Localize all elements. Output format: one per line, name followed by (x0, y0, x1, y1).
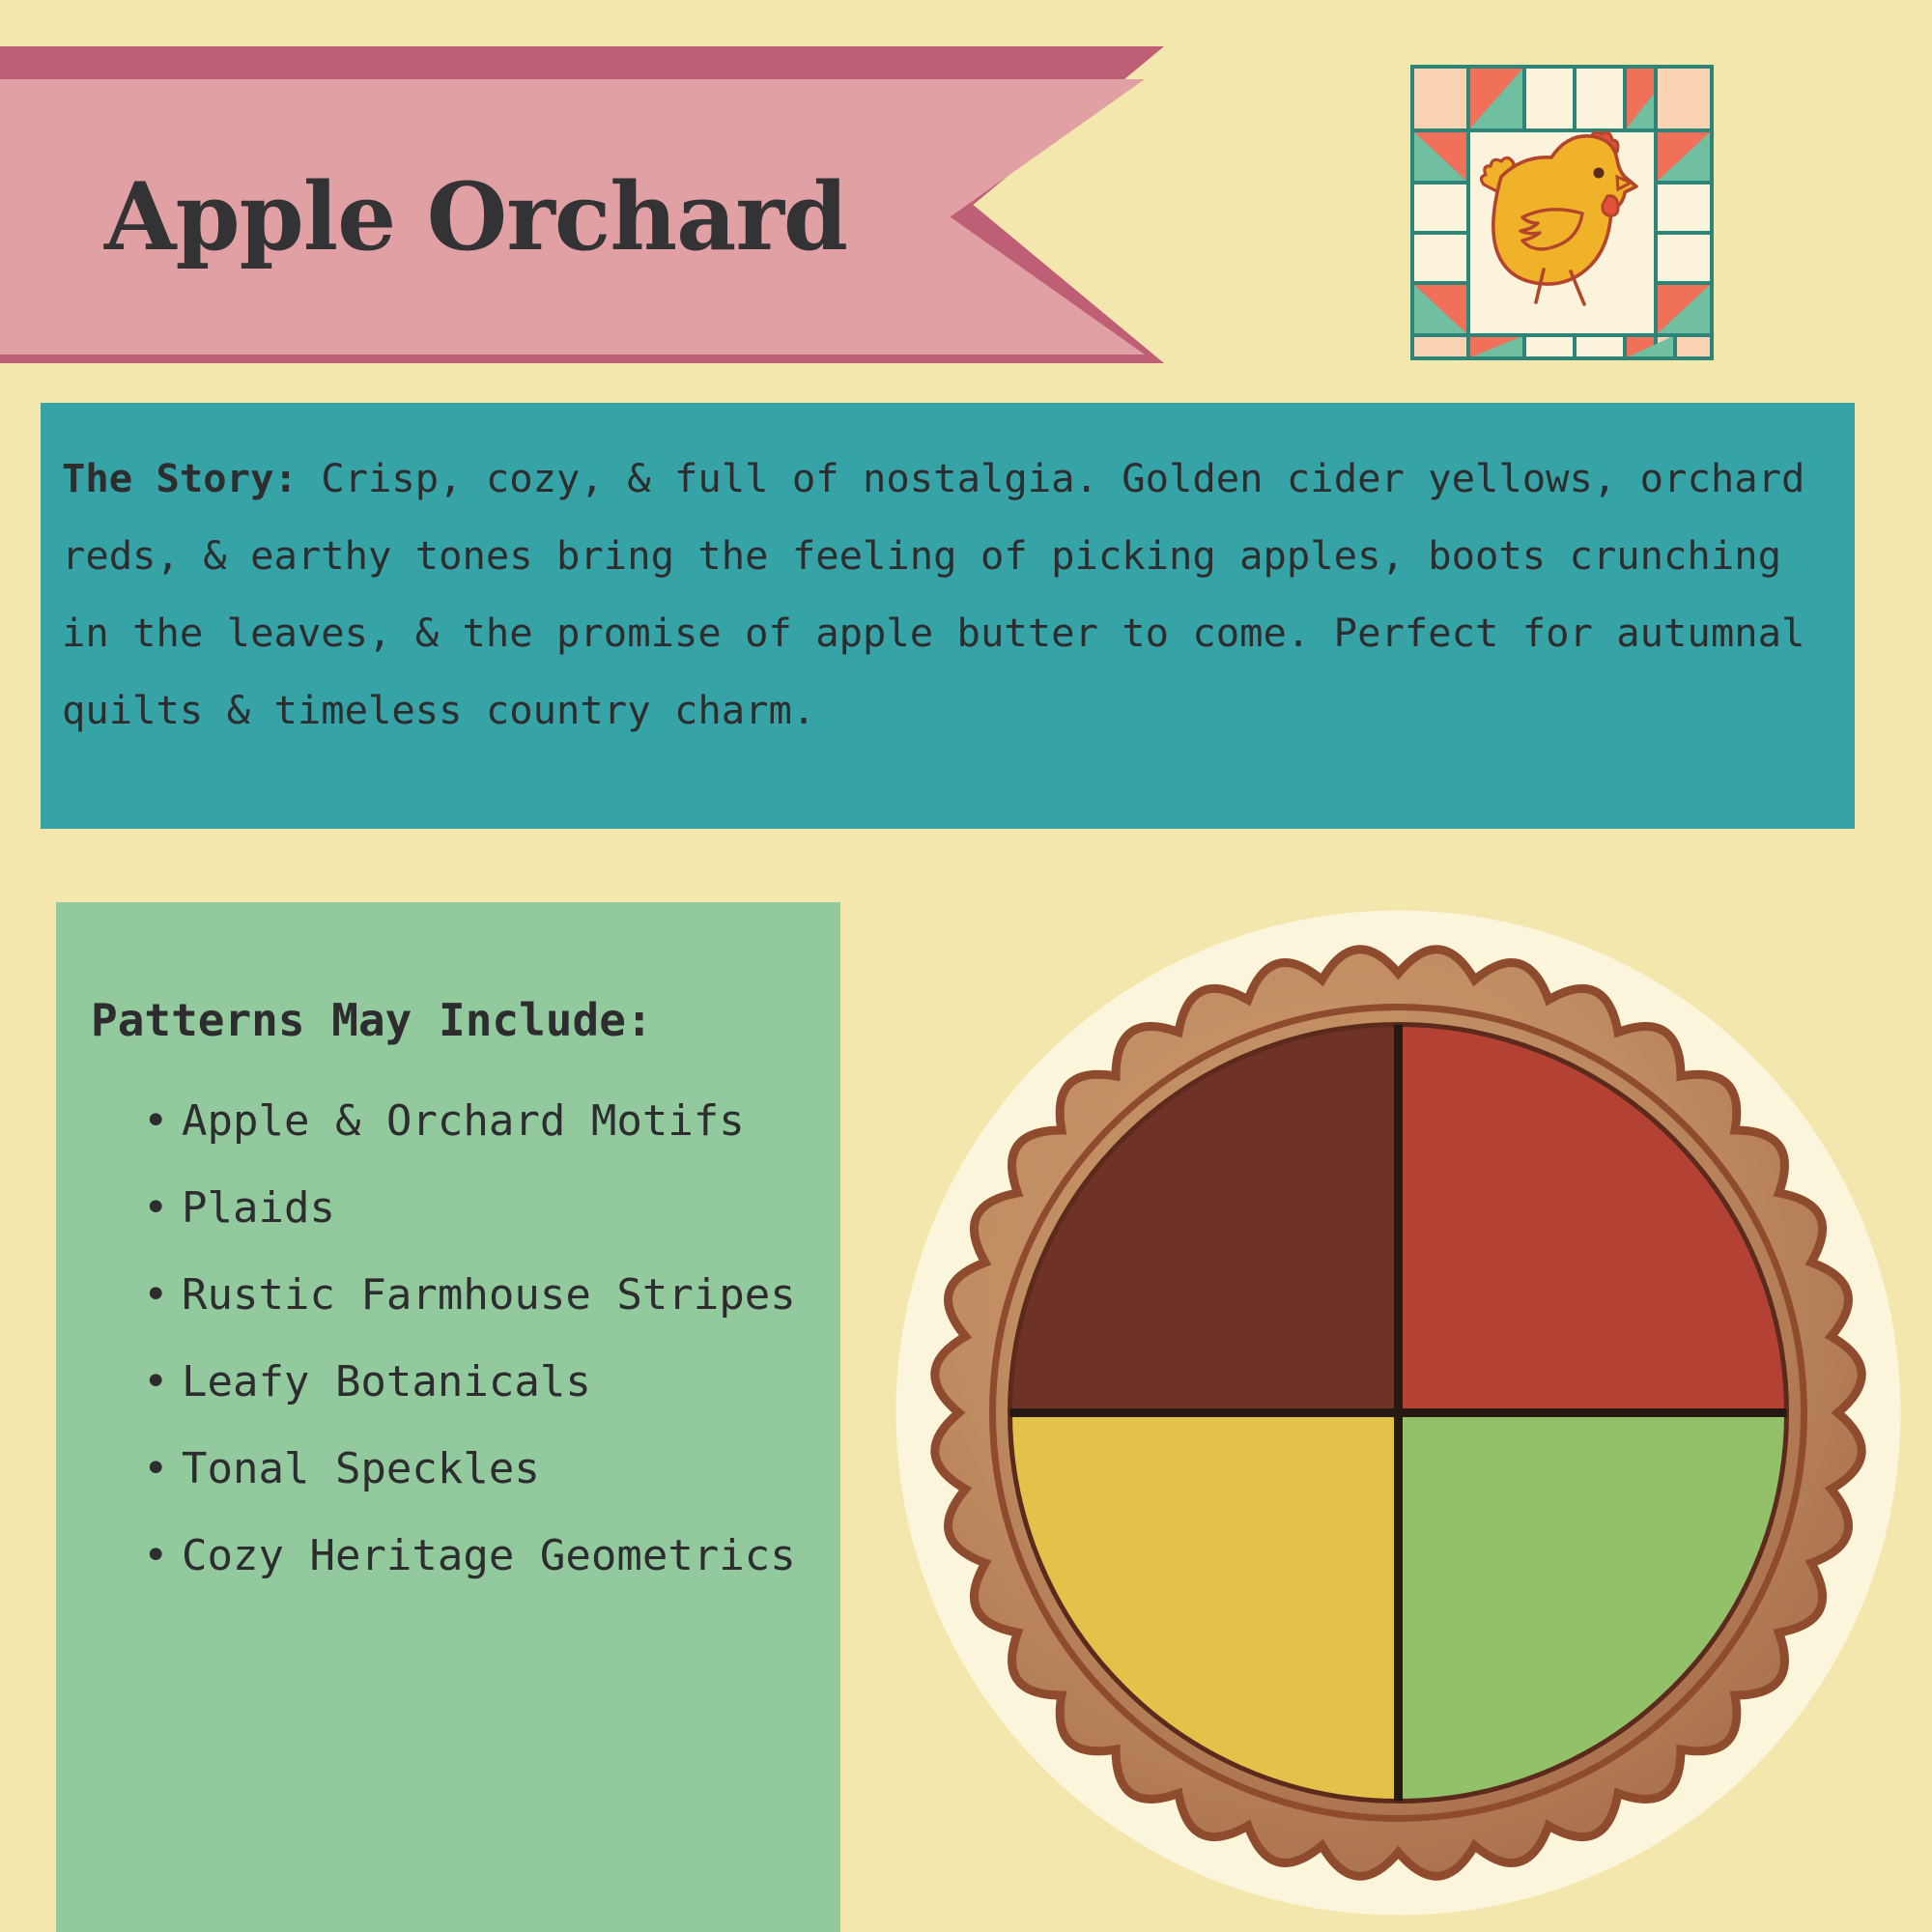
list-item: Tonal Speckles (143, 1429, 817, 1510)
story-box: The Story: Crisp, cozy, & full of nostal… (41, 403, 1855, 829)
list-item: Apple & Orchard Motifs (143, 1081, 817, 1162)
list-item: Plaids (143, 1168, 817, 1249)
list-item: Leafy Botanicals (143, 1342, 817, 1423)
story-label: The Story: (62, 455, 298, 501)
story-paragraph: The Story: Crisp, cozy, & full of nostal… (62, 440, 1833, 749)
patterns-list: Apple & Orchard Motifs Plaids Rustic Far… (56, 1081, 840, 1597)
chicken-quilt-block-icon: .tl { stroke:#2C8577; stroke-width:4; } … (1408, 63, 1716, 362)
apple-pie-color-wheel (879, 894, 1918, 1932)
list-item: Rustic Farmhouse Stripes (143, 1255, 817, 1336)
title-ribbon: Apple Orchard (0, 46, 1164, 363)
story-text: Crisp, cozy, & full of nostalgia. Golden… (62, 455, 1829, 733)
patterns-heading: Patterns May Include: (91, 994, 840, 1046)
page-title: Apple Orchard (0, 79, 952, 355)
patterns-box: Patterns May Include: Apple & Orchard Mo… (56, 902, 840, 1932)
list-item: Cozy Heritage Geometrics (143, 1516, 817, 1597)
